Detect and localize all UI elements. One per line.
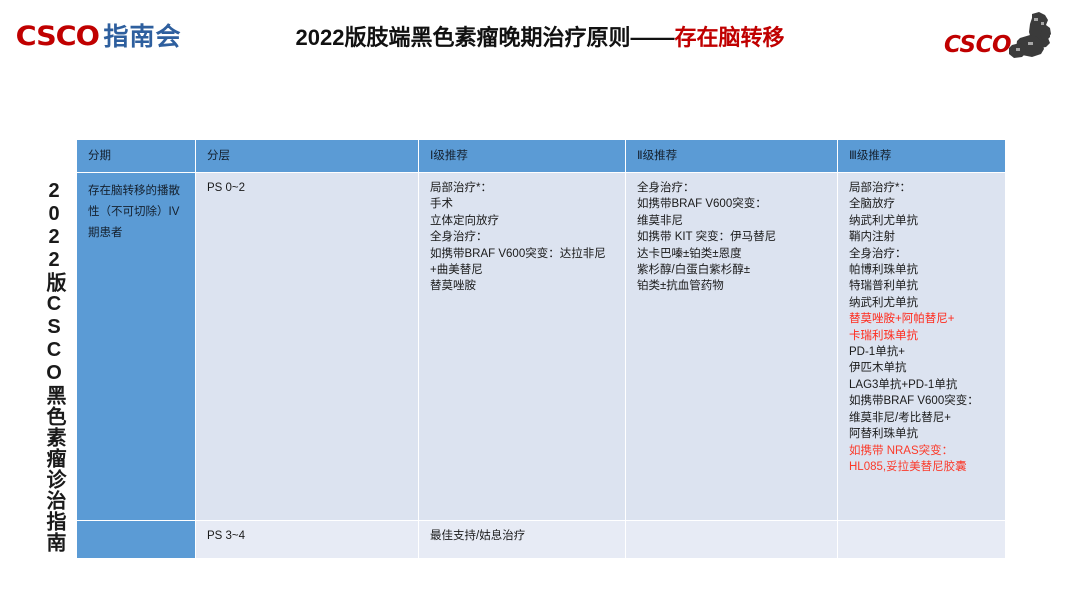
level3-block-b: PD-1单抗+ 伊匹木单抗 LAG3单抗+PD-1单抗 如携带BRAF V600… [849,346,979,440]
column-header-layer: 分层 [196,140,419,173]
table-row: PS 3~4 最佳支持/姑息治疗 [77,521,1006,559]
page-title-main: 2022版肢端黑色素瘤晚期治疗原则—— [296,25,675,50]
level3-block-a: 局部治疗*： 全脑放疗 纳武利尤单抗 鞘内注射 全身治疗： 帕博利珠单抗 特瑞普… [849,182,918,309]
table-row: 存在脑转移的播散性（不可切除）IV期患者 PS 0~2 局部治疗*： 手术 立体… [77,173,1006,521]
cell-level2 [626,521,838,559]
recommendation-table: 分期 分层 Ⅰ级推荐 Ⅱ级推荐 Ⅲ级推荐 存在脑转移的播散性（不可切除）IV期患… [76,139,1006,559]
level3-highlight-a: 替莫唑胺+阿帕替尼+ 卡瑞利珠单抗 [849,313,954,341]
cell-level3: 局部治疗*： 全脑放疗 纳武利尤单抗 鞘内注射 全身治疗： 帕博利珠单抗 特瑞普… [838,173,1006,521]
table-header-row: 分期 分层 Ⅰ级推荐 Ⅱ级推荐 Ⅲ级推荐 [77,140,1006,173]
cell-stage: 存在脑转移的播散性（不可切除）IV期患者 [77,173,196,521]
level3-highlight-b: 如携带 NRAS突变： HL085,妥拉美替尼胶囊 [849,445,967,473]
side-caption: 2022版CSCO黑色素瘤诊治指南 [30,180,64,553]
column-header-level2: Ⅱ级推荐 [626,140,838,173]
cell-layer: PS 0~2 [196,173,419,521]
statue-icon [998,12,1056,58]
page-title-highlight: 存在脑转移 [674,25,784,50]
column-header-level1: Ⅰ级推荐 [419,140,626,173]
column-header-level3: Ⅲ级推荐 [838,140,1006,173]
cell-level3 [838,521,1006,559]
cell-level2: 全身治疗： 如携带BRAF V600突变： 维莫非尼 如携带 KIT 突变：伊马… [626,173,838,521]
slide-canvas: CSCO 指南会 2022版肢端黑色素瘤晚期治疗原则——存在脑转移 CSCO 2… [0,0,1080,608]
page-title: 2022版肢端黑色素瘤晚期治疗原则——存在脑转移 [0,20,1080,52]
cell-stage-empty [77,521,196,559]
cell-level1: 最佳支持/姑息治疗 [419,521,626,559]
cell-layer: PS 3~4 [196,521,419,559]
csco-statue-logo: CSCO [944,12,1056,60]
cell-level1: 局部治疗*： 手术 立体定向放疗 全身治疗： 如携带BRAF V600突变：达拉… [419,173,626,521]
column-header-stage: 分期 [77,140,196,173]
